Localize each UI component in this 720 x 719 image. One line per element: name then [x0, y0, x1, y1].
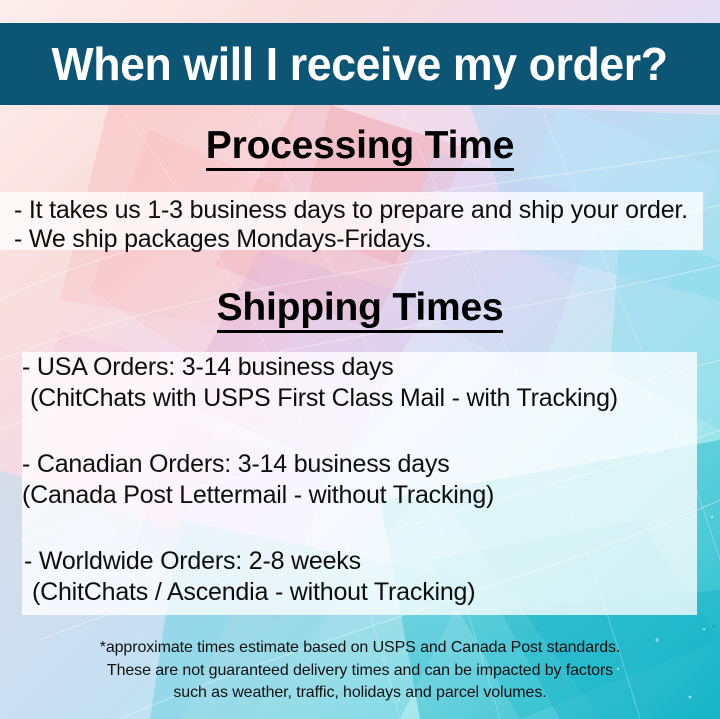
content-layer: Processing Time - It takes us 1-3 busine… [0, 0, 720, 719]
canadian-orders-line-2: (Canada Post Lettermail - without Tracki… [22, 483, 494, 508]
canadian-orders-line-1: - Canadian Orders: 3-14 business days [22, 452, 450, 477]
usa-orders-line-2: (ChitChats with USPS First Class Mail - … [30, 386, 618, 411]
usa-orders-line-1: - USA Orders: 3-14 business days [22, 355, 394, 380]
processing-line-1: - It takes us 1-3 business days to prepa… [14, 198, 688, 223]
disclaimer-line-2: These are not guaranteed delivery times … [0, 660, 720, 683]
processing-line-2: - We ship packages Mondays-Fridays. [14, 227, 432, 252]
worldwide-orders-line-1: - Worldwide Orders: 2-8 weeks [24, 549, 361, 574]
processing-time-heading: Processing Time [0, 126, 720, 171]
disclaimer-line-1: *approximate times estimate based on USP… [0, 637, 720, 660]
shipping-info-graphic: When will I receive my order? Processing… [0, 0, 720, 719]
header-banner: When will I receive my order? [0, 23, 720, 105]
shipping-times-heading-text: Shipping Times [217, 288, 504, 333]
disclaimer-note: *approximate times estimate based on USP… [0, 637, 720, 705]
disclaimer-line-3: such as weather, traffic, holidays and p… [0, 682, 720, 705]
processing-time-heading-text: Processing Time [206, 126, 514, 171]
shipping-times-heading: Shipping Times [0, 288, 720, 333]
page-title: When will I receive my order? [52, 41, 668, 87]
worldwide-orders-line-2: (ChitChats / Ascendia - without Tracking… [32, 580, 475, 605]
